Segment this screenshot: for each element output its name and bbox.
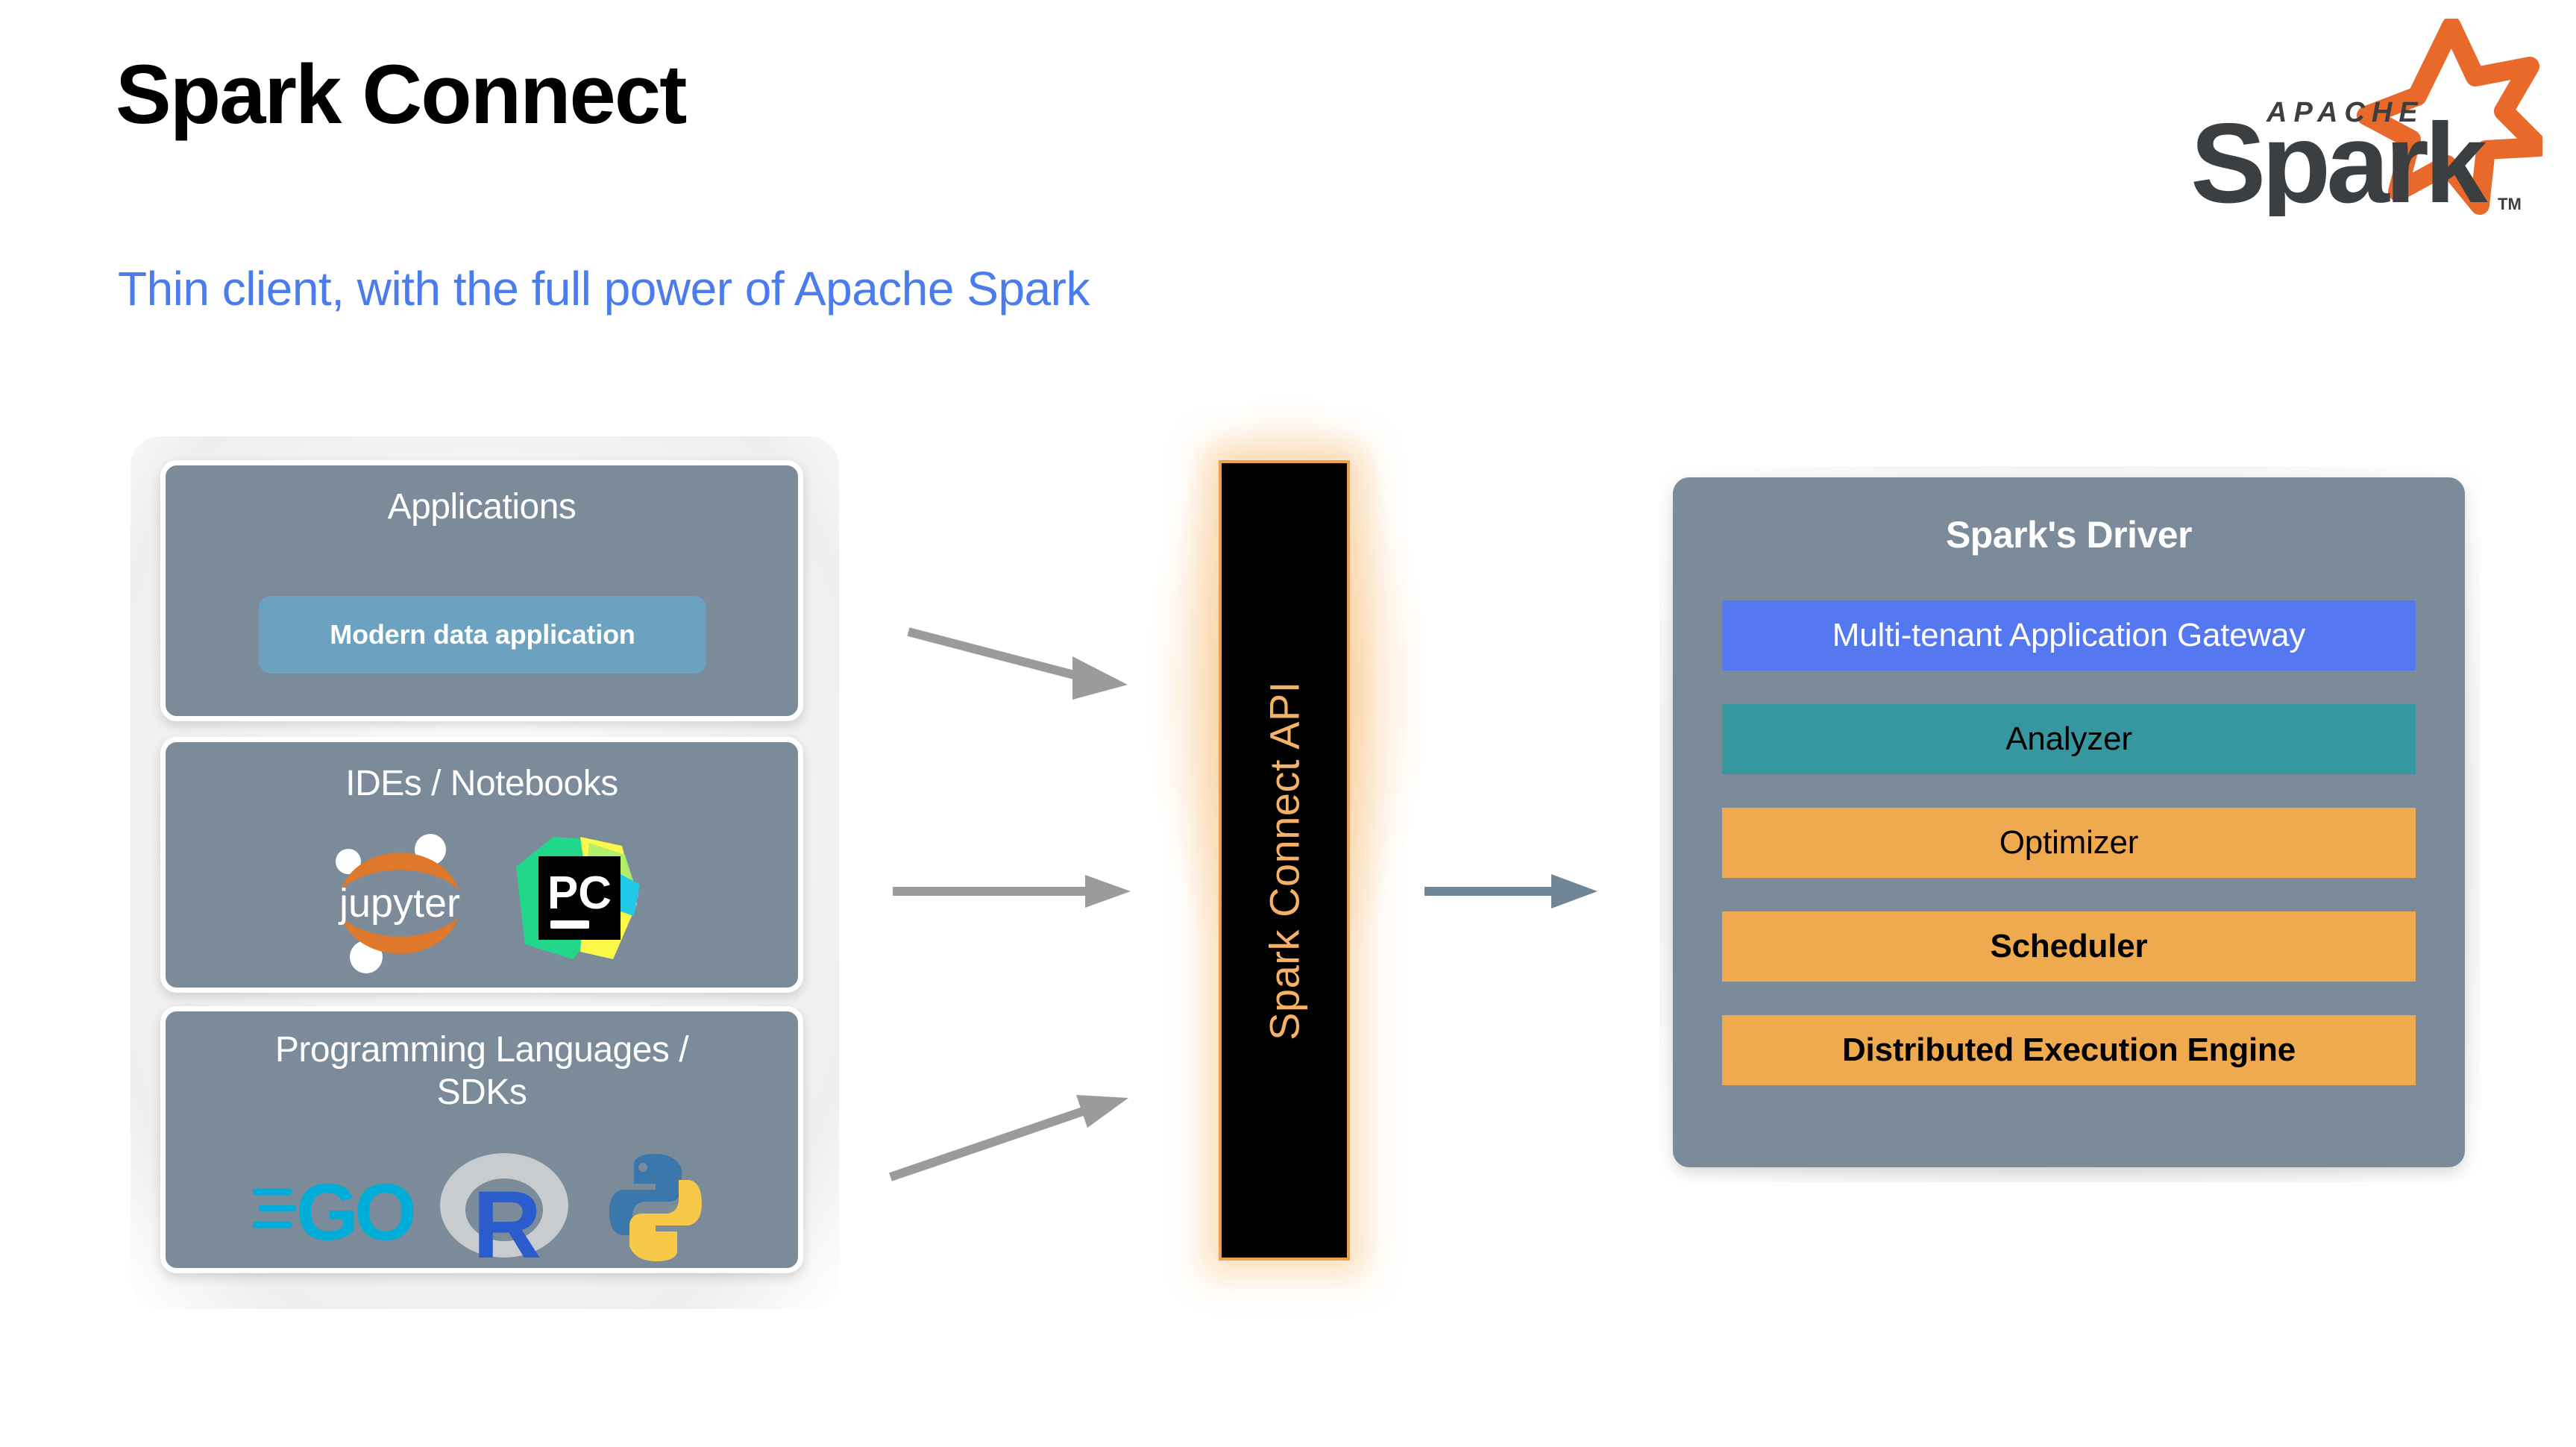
page-subtitle: Thin client, with the full power of Apac…: [118, 261, 1090, 316]
ides-logo-row: jupyter PC: [166, 826, 798, 979]
page-title: Spark Connect: [116, 51, 685, 139]
driver-row-optimizer-label: Optimizer: [1999, 824, 2138, 861]
pycharm-underscore: [550, 920, 589, 929]
r-logo: R: [436, 1144, 577, 1275]
modern-data-application-pill[interactable]: Modern data application: [259, 596, 706, 674]
card-applications[interactable]: Applications Modern data application: [160, 460, 803, 721]
card-applications-title: Applications: [166, 486, 798, 529]
languages-logo-row: GO R: [166, 1144, 798, 1275]
arrow-languages-to-connect: [890, 1095, 1128, 1177]
spark-driver-panel[interactable]: Spark's Driver Multi-tenant Application …: [1673, 477, 2465, 1167]
card-ides-title: IDEs / Notebooks: [166, 763, 798, 806]
go-speed-lines: [256, 1192, 293, 1225]
card-languages-title-line1: Programming Languages /: [166, 1029, 798, 1072]
card-languages-title: Programming Languages / SDKs: [166, 1029, 798, 1114]
driver-row-analyzer[interactable]: Analyzer: [1722, 704, 2416, 774]
driver-row-gateway[interactable]: Multi-tenant Application Gateway: [1722, 600, 2416, 671]
driver-row-execution-engine-label: Distributed Execution Engine: [1842, 1032, 2296, 1069]
card-languages-title-line2: SDKs: [166, 1072, 798, 1114]
card-programming-languages[interactable]: Programming Languages / SDKs GO R: [160, 1006, 803, 1273]
apache-spark-logo: APACHE Spark TM: [2155, 19, 2542, 216]
arrow-ides-to-connect: [893, 875, 1131, 908]
spark-driver-title: Spark's Driver: [1673, 513, 2465, 556]
card-ides-notebooks[interactable]: IDEs / Notebooks jupyter PC: [160, 737, 803, 993]
python-logo: [600, 1151, 711, 1268]
jupyter-wordmark: jupyter: [337, 881, 459, 926]
jupyter-logo: jupyter: [320, 826, 480, 979]
driver-rows: Multi-tenant Application Gateway Analyze…: [1722, 600, 2416, 1085]
go-logo: GO: [253, 1159, 413, 1260]
pycharm-logo: PC: [509, 832, 644, 972]
arrow-connect-to-driver: [1424, 874, 1598, 908]
spark-connect-api-label: Spark Connect API: [1260, 681, 1309, 1040]
driver-row-optimizer[interactable]: Optimizer: [1722, 808, 2416, 878]
driver-row-scheduler-label: Scheduler: [1991, 928, 2148, 965]
trademark-mark: TM: [2498, 195, 2522, 213]
driver-row-gateway-label: Multi-tenant Application Gateway: [1832, 617, 2305, 654]
r-wordmark: R: [472, 1172, 541, 1271]
driver-row-execution-engine[interactable]: Distributed Execution Engine: [1722, 1015, 2416, 1085]
driver-row-analyzer-label: Analyzer: [2005, 721, 2132, 758]
spark-connect-api-bar[interactable]: Spark Connect API: [1219, 460, 1350, 1261]
modern-data-application-label: Modern data application: [330, 619, 635, 650]
arrow-applications-to-connect: [908, 632, 1128, 700]
driver-row-scheduler[interactable]: Scheduler: [1722, 911, 2416, 982]
pycharm-wordmark: PC: [547, 867, 611, 919]
spark-wordmark: Spark: [2190, 100, 2488, 216]
go-wordmark: GO: [296, 1167, 413, 1256]
